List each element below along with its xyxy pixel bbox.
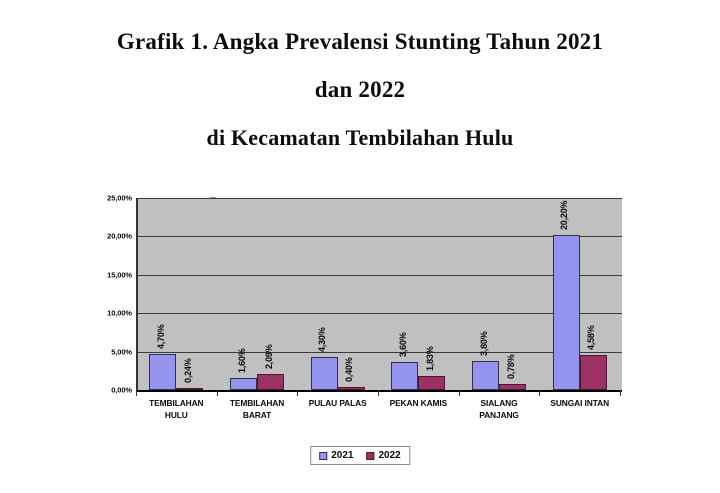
bar-value-label: 3,80% [479,331,489,356]
chart-legend[interactable]: 20212022 [310,446,410,465]
bar-2022-6[interactable]: 4,58% [580,355,607,390]
bar-value-label: 1,83% [425,346,435,371]
bar-2022-4[interactable]: 1,83% [418,376,445,390]
bar-group: 3,80%0,78% [459,198,540,390]
bar-2021-6[interactable]: 20,20% [553,235,580,390]
x-axis-category-line: SUNGAI INTAN [539,397,620,409]
x-axis-category-line: HULU [136,409,217,421]
x-axis-labels: TEMBILAHANHULUTEMBILAHANBARATPULAU PALAS… [136,397,620,421]
y-axis-tick-label: 5,00% [86,347,132,356]
x-axis-category-line: PULAU PALAS [297,397,378,409]
x-axis-tick [378,390,379,396]
x-axis-category-line: SIALANG [459,397,540,409]
bar-value-label: 4,58% [586,325,596,350]
y-axis-tick-label: 10,00% [86,309,132,318]
bar-pair: 1,60%2,09% [217,198,298,390]
title-line-3: di Kecamatan Tembilahan Hulu [0,127,720,149]
x-axis-category-line: BARAT [217,409,298,421]
x-axis-category-line: PEKAN KAMIS [378,397,459,409]
bar-value-label: 0,24% [183,358,193,383]
bar-2021-2[interactable]: 1,60% [230,378,257,390]
x-axis-category-line: PANJANG [459,409,540,421]
bar-value-label: 3,60% [398,333,408,358]
y-axis-labels: 0,00%5,00%10,00%15,00%20,00%25,00% [80,198,132,390]
bar-value-label: 1,60% [237,348,247,373]
bar-2022-2[interactable]: 2,09% [257,374,284,390]
x-axis-category-line: TEMBILAHAN [136,397,217,409]
bar-value-label: 20,20% [559,201,569,230]
title-line-2: dan 2022 [0,78,720,101]
legend-label: 2021 [331,450,353,461]
bar-group: 20,20%4,58% [539,198,620,390]
legend-swatch-icon [367,452,375,460]
legend-item-2022[interactable]: 2022 [367,450,401,461]
bar-2021-4[interactable]: 3,60% [391,362,418,390]
bar-group: 4,30%0,40% [297,198,378,390]
bar-2021-5[interactable]: 3,80% [472,361,499,390]
chart-title-block: Grafik 1. Angka Prevalensi Stunting Tahu… [0,0,720,149]
bar-2021-3[interactable]: 4,30% [311,357,338,390]
legend-item-2021[interactable]: 2021 [319,450,353,461]
bar-pair: 3,60%1,83% [378,198,459,390]
title-line-1: Grafik 1. Angka Prevalensi Stunting Tahu… [0,30,720,53]
x-axis-tick [539,390,540,396]
x-axis-category-label: PEKAN KAMIS [378,397,459,421]
bar-group: 4,70%0,24% [136,198,217,390]
bar-pair: 4,70%0,24% [136,198,217,390]
bar-group: 3,60%1,83% [378,198,459,390]
bar-pair: 20,20%4,58% [539,198,620,390]
bar-value-label: 4,30% [317,327,327,352]
x-axis-tick [620,390,621,396]
y-axis-tick-label: 0,00% [86,386,132,395]
y-axis-tick-label: 20,00% [86,232,132,241]
x-axis-tick [217,390,218,396]
bar-groups: 4,70%0,24%1,60%2,09%4,30%0,40%3,60%1,83%… [136,198,620,390]
x-axis-category-label: TEMBILAHANHULU [136,397,217,421]
bar-pair: 4,30%0,40% [297,198,378,390]
x-axis-category-label: PULAU PALAS [297,397,378,421]
bar-chart: 0,00%5,00%10,00%15,00%20,00%25,00% 4,70%… [0,193,720,493]
bar-pair: 3,80%0,78% [459,198,540,390]
bar-group: 1,60%2,09% [217,198,298,390]
x-axis-tick [459,390,460,396]
x-axis-category-label: SIALANGPANJANG [459,397,540,421]
y-axis-tick-label: 15,00% [86,270,132,279]
bar-2021-1[interactable]: 4,70% [149,354,176,390]
x-axis-ticks [136,390,620,397]
x-axis-tick [136,390,137,396]
bar-value-label: 4,70% [156,324,166,349]
bar-value-label: 0,40% [344,357,354,382]
x-axis-category-line: TEMBILAHAN [217,397,298,409]
x-axis-tick [297,390,298,396]
bar-value-label: 2,09% [264,344,274,369]
x-axis-category-label: TEMBILAHANBARAT [217,397,298,421]
legend-label: 2022 [379,450,401,461]
x-axis-category-label: SUNGAI INTAN [539,397,620,421]
y-axis-tick-label: 25,00% [86,194,132,203]
bar-value-label: 0,78% [506,354,516,379]
legend-swatch-icon [319,452,327,460]
